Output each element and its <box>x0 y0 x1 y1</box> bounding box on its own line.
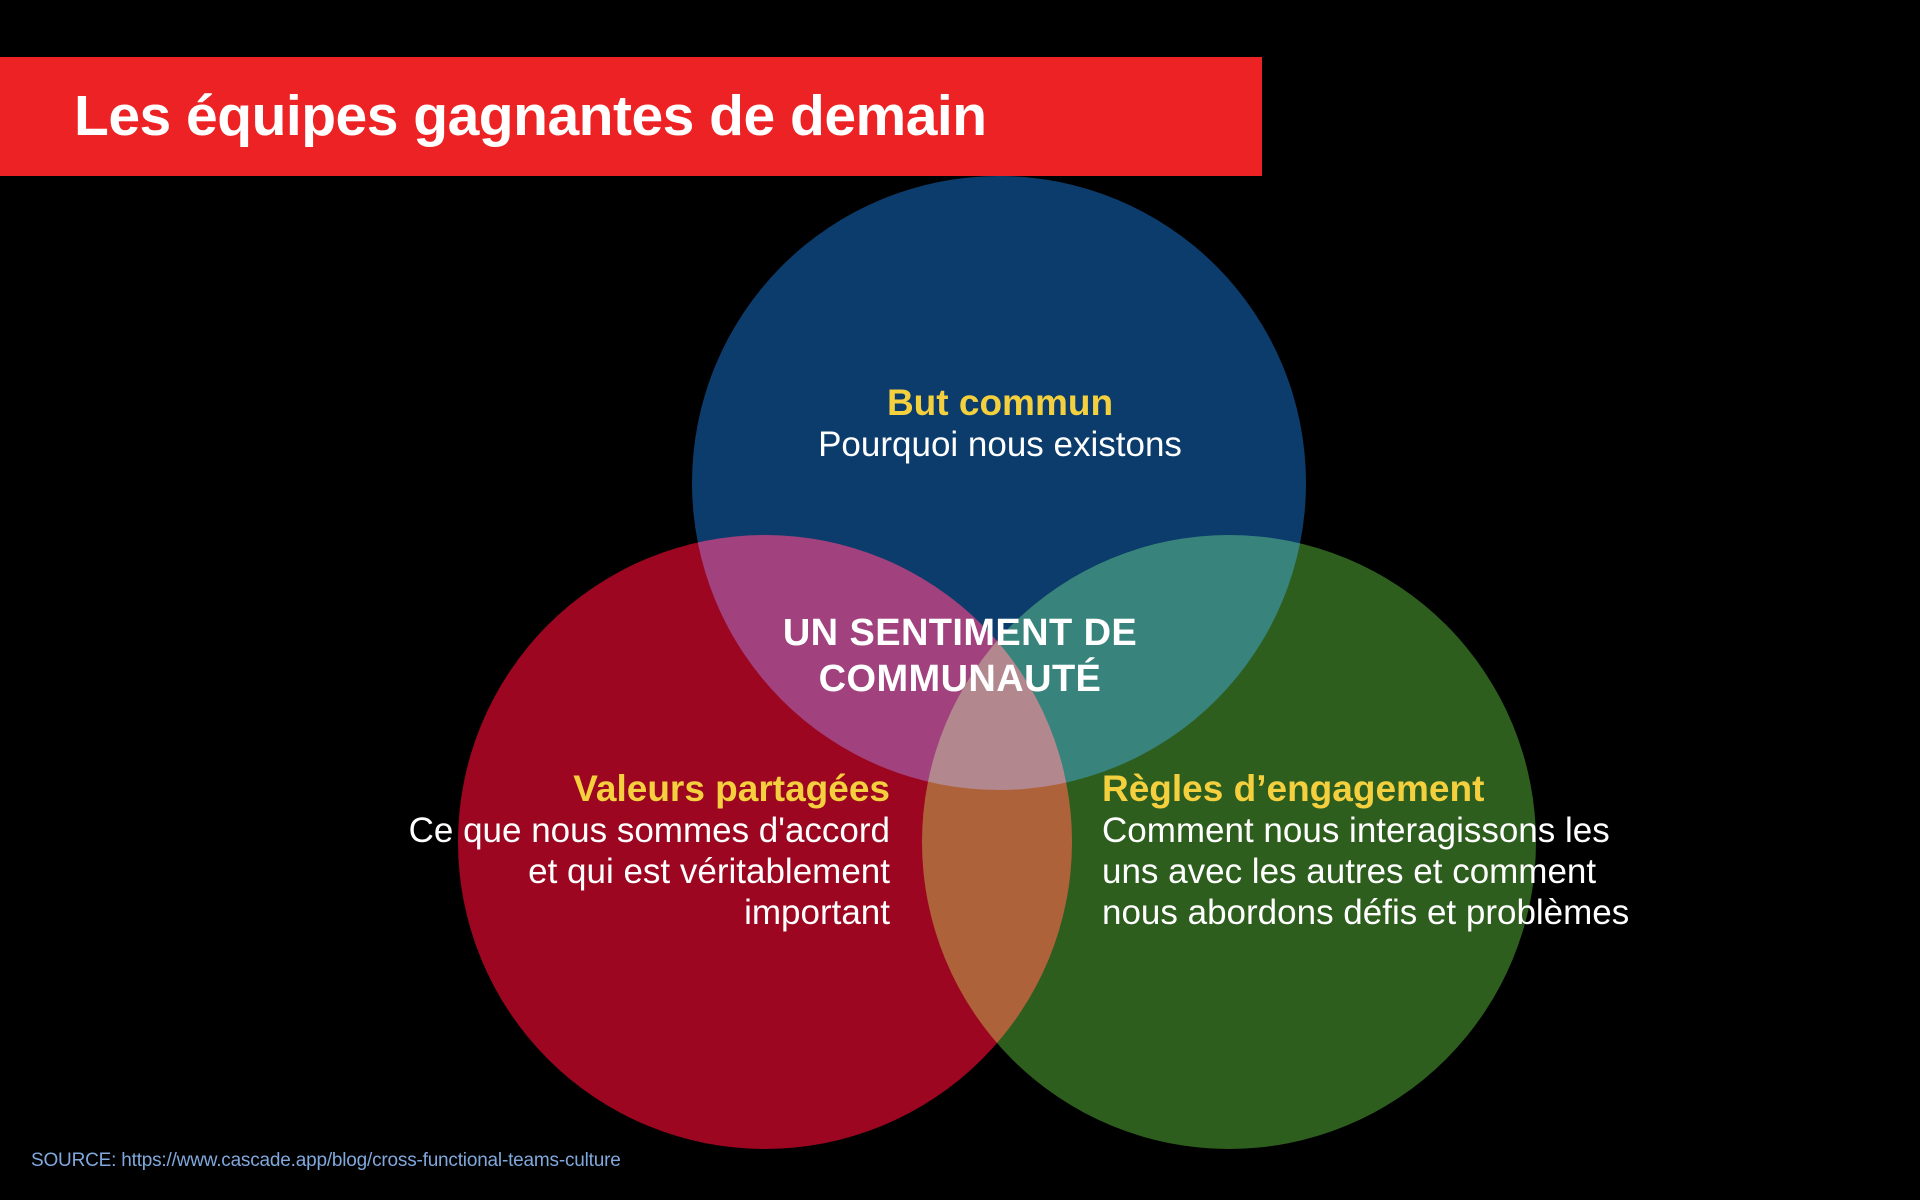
venn-diagram: But commun Pourquoi nous existons UN SEN… <box>0 0 1920 1200</box>
venn-center-overlap-label: UN SENTIMENT DE COMMUNAUTÉ <box>690 610 1230 703</box>
venn-label-values: Valeurs partagées Ce que nous sommes d'a… <box>390 768 890 934</box>
venn-body-values: Ce que nous sommes d'accord et qui est v… <box>390 811 890 934</box>
venn-heading-values: Valeurs partagées <box>390 768 890 809</box>
venn-body-rules: Comment nous interagissons les uns avec … <box>1102 811 1662 934</box>
source-citation: SOURCE: https://www.cascade.app/blog/cro… <box>31 1150 621 1172</box>
slide-canvas: Les équipes gagnantes de demain But comm… <box>0 0 1920 1200</box>
venn-center-text: UN SENTIMENT DE COMMUNAUTÉ <box>783 612 1137 700</box>
venn-body-purpose: Pourquoi nous existons <box>690 425 1310 466</box>
venn-heading-rules: Règles d’engagement <box>1102 768 1662 809</box>
venn-label-rules: Règles d’engagement Comment nous interag… <box>1102 768 1662 934</box>
venn-heading-purpose: But commun <box>690 382 1310 423</box>
venn-label-purpose: But commun Pourquoi nous existons <box>690 382 1310 466</box>
